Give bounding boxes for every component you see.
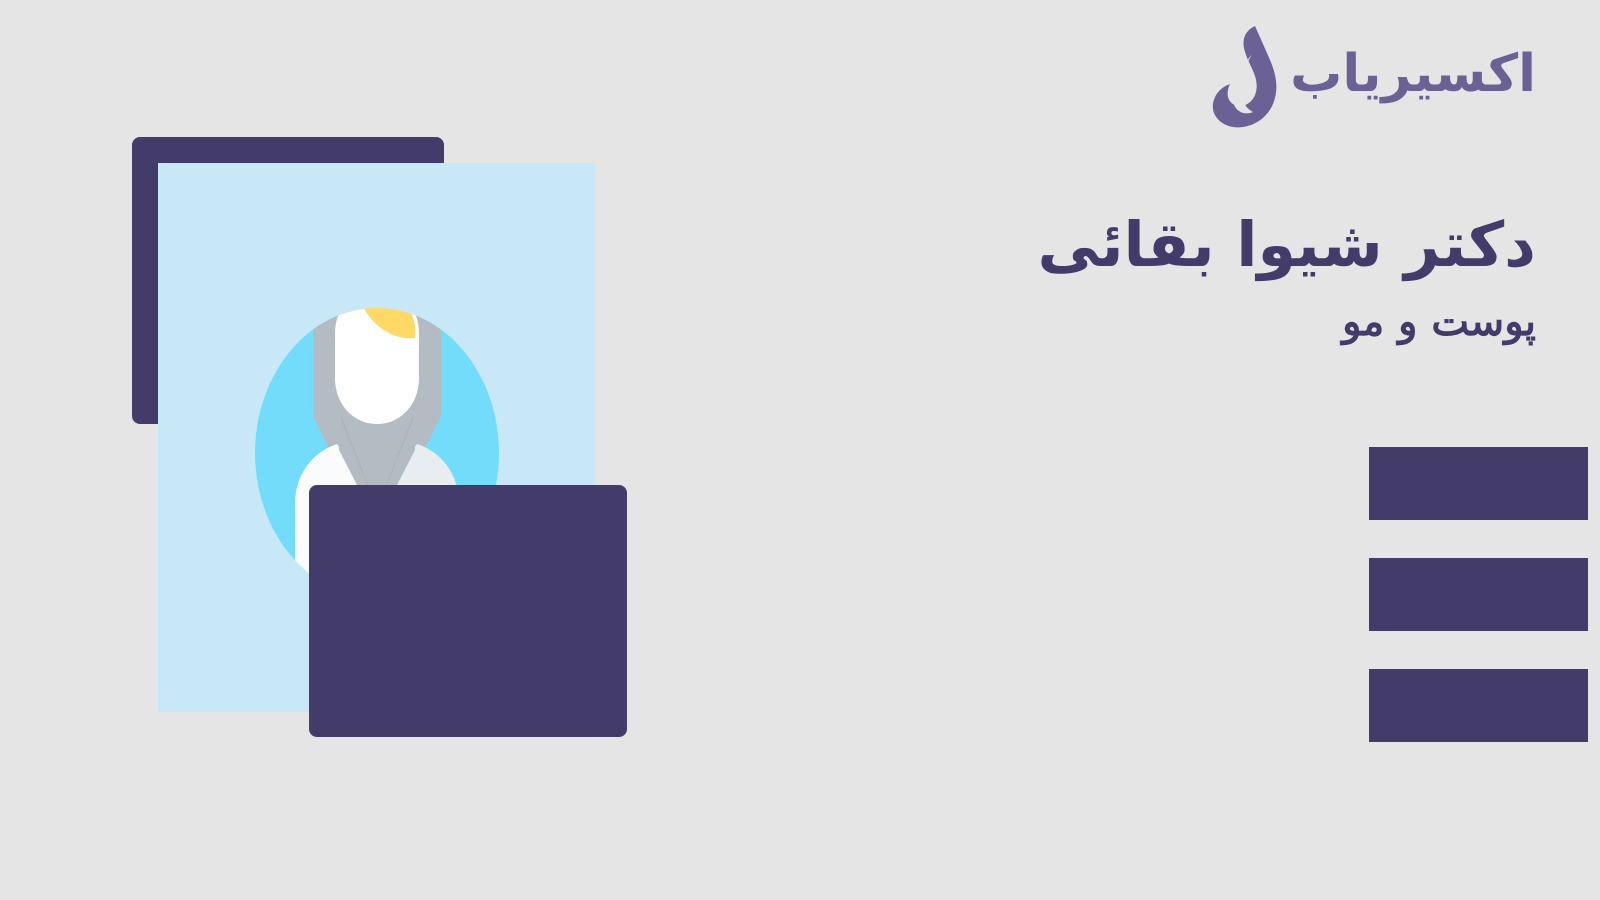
headline-block: دکتر شیوا بقائی پوست و مو	[836, 206, 1536, 346]
decorative-bar-1	[1369, 447, 1588, 520]
doctor-specialty: پوست و مو	[836, 298, 1536, 346]
brand-logo[interactable]: اکسیریاب	[1208, 24, 1536, 130]
flame-drop-icon	[1208, 24, 1280, 130]
decorative-bar-2	[1369, 558, 1588, 631]
portrait-composition	[132, 137, 632, 747]
doctor-name: دکتر شیوا بقائی	[836, 206, 1536, 284]
decorative-bars	[1369, 447, 1588, 742]
portrait-frame-front	[309, 485, 627, 737]
brand-name-label: اکسیریاب	[1290, 48, 1536, 106]
decorative-bar-3	[1369, 669, 1588, 742]
doctor-profile-banner: اکسیریاب دکتر شیوا بقائی پوست و مو	[0, 0, 1600, 900]
